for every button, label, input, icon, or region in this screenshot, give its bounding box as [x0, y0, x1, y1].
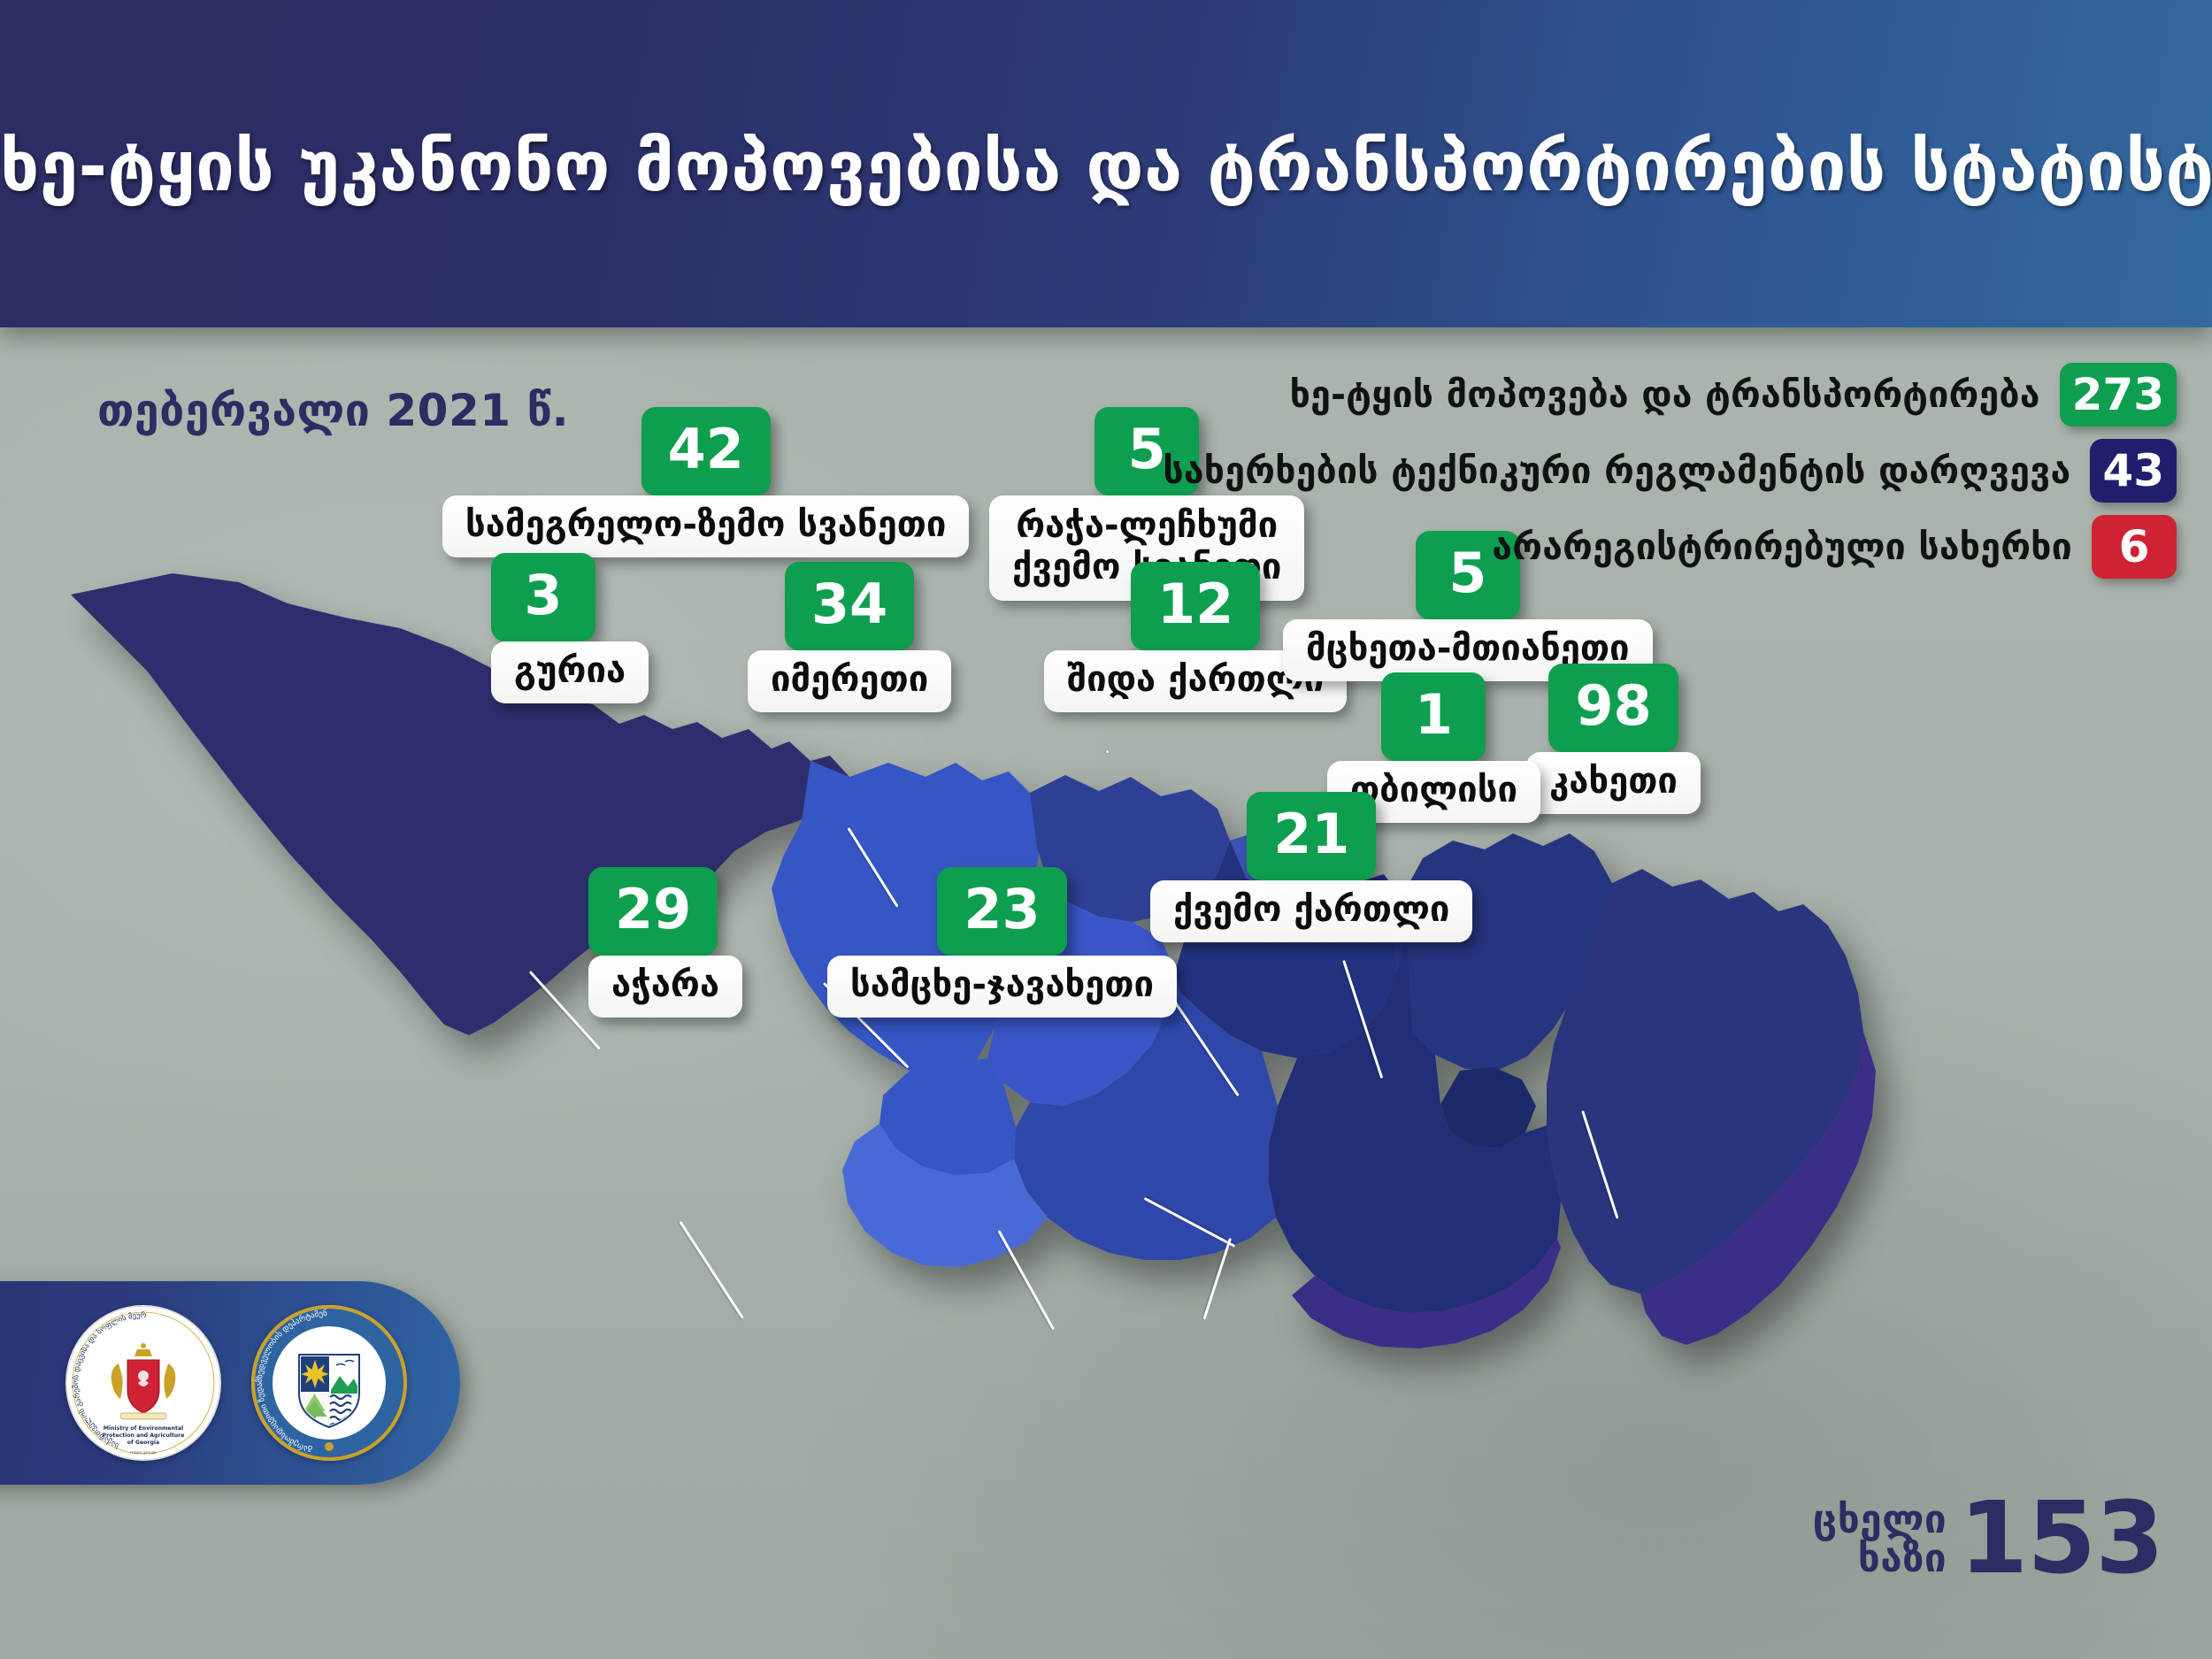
supervision-emblem-svg: გარემოსდაცვითი ზედამხედველობის დეპარტამე… [251, 1305, 407, 1461]
legend-label: ხე-ტყის მოპოვება და ტრანსპორტირება [1290, 373, 2040, 416]
marker-guria: 3 გურია [491, 553, 649, 703]
supervision-emblem-icon: გარემოსდაცვითი ზედამხედველობის დეპარტამე… [251, 1305, 407, 1461]
page-header: ხე-ტყის უკანონო მოპოვებისა და ტრანსპორტი… [0, 0, 2212, 327]
marker-count: 42 [641, 407, 771, 495]
date-label: თებერვალი 2021 წ. [97, 385, 569, 436]
marker-adjara: 29 აჭარა [588, 867, 742, 1018]
marker-samtskhe-javakheti: 23 სამცხე-ჯავახეთი [827, 867, 1177, 1018]
logo-pill: Ministry of Environmental Protection and… [0, 1281, 460, 1485]
legend-label: სახერხების ტექნიკური რეგლამენტის დარღვევ… [1163, 449, 2070, 492]
hotline-label: ცხელი ხაზი [1813, 1501, 1947, 1578]
svg-text:mepa.gov.ge: mepa.gov.ge [130, 1451, 157, 1455]
marker-label: სამეგრელო-ზემო სვანეთი [442, 495, 969, 557]
marker-kakheti: 98 კახეთი [1526, 664, 1701, 814]
legend-row: სახერხების ტექნიკური რეგლამენტის დარღვევ… [1163, 439, 2177, 503]
ministry-emblem-svg: Ministry of Environmental Protection and… [65, 1305, 221, 1461]
hotline: ცხელი ხაზი 153 [1813, 1494, 2163, 1584]
marker-count: 1 [1381, 672, 1486, 761]
marker-label: გურია [491, 641, 649, 703]
legend-row: არარეგისტრირებული სახერხი 6 [1492, 515, 2177, 579]
marker-count: 23 [937, 867, 1066, 956]
marker-label: კახეთი [1526, 752, 1701, 814]
marker-kvemo-kartli: 21 ქვემო ქართლი [1150, 792, 1472, 942]
hotline-number: 153 [1959, 1494, 2163, 1584]
marker-count: 34 [785, 562, 914, 650]
marker-imereti: 34 იმერეთი [748, 562, 951, 712]
hotline-word-1: ცხელი [1813, 1501, 1947, 1540]
legend-value-badge: 273 [2060, 363, 2177, 426]
legend-row: ხე-ტყის მოპოვება და ტრანსპორტირება 273 [1290, 363, 2177, 426]
svg-text:Protection and Agriculture: Protection and Agriculture [103, 1432, 185, 1439]
svg-text:Ministry of Environmental: Ministry of Environmental [104, 1425, 184, 1432]
marker-count: 29 [588, 867, 718, 956]
marker-label: აჭარა [588, 956, 742, 1018]
marker-count: 3 [491, 553, 595, 641]
legend-value-badge: 6 [2092, 515, 2177, 579]
marker-label: იმერეთი [748, 650, 951, 712]
marker-label: ქვემო ქართლი [1150, 880, 1472, 942]
leader-line [1106, 750, 1109, 753]
legend-value-badge: 43 [2090, 439, 2177, 503]
hotline-word-2: ხაზი [1813, 1540, 1947, 1578]
page-title: ხე-ტყის უკანონო მოპოვებისა და ტრანსპორტი… [0, 133, 2212, 202]
marker-count: 21 [1247, 792, 1376, 880]
marker-label: სამცხე-ჯავახეთი [827, 956, 1177, 1018]
legend-label: არარეგისტრირებული სახერხი [1492, 526, 2072, 568]
ministry-emblem-icon: Ministry of Environmental Protection and… [65, 1305, 221, 1461]
marker-count: 98 [1548, 664, 1678, 752]
svg-text:of Georgia: of Georgia [127, 1440, 159, 1446]
legend: ხე-ტყის მოპოვება და ტრანსპორტირება 273 ს… [1163, 363, 2177, 579]
